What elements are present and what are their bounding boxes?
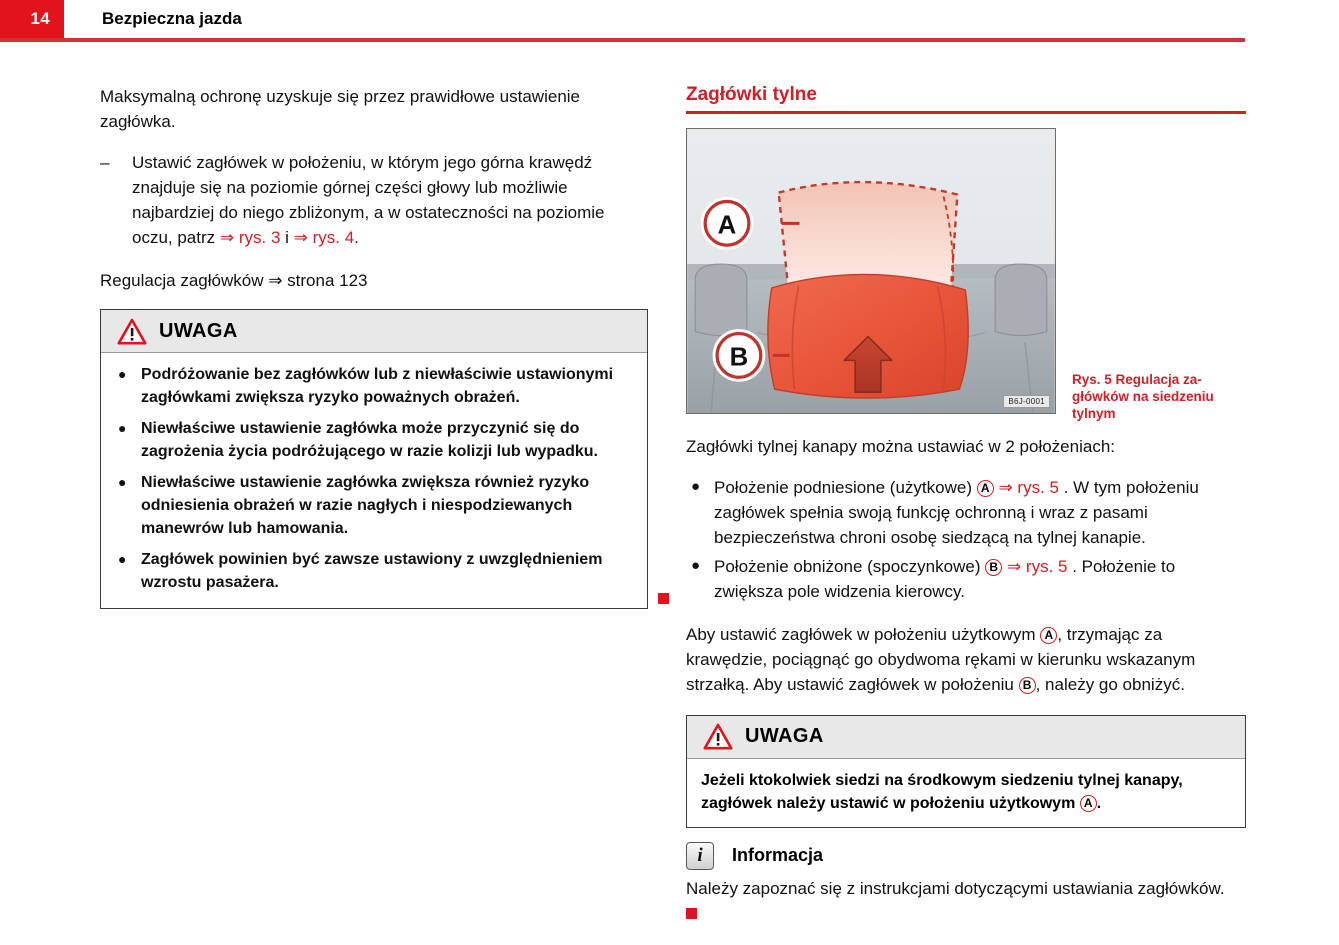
bullet-text-before: Położenie obniżone (spoczynkowe) (714, 557, 985, 576)
figure-caption: Rys. 5 Regulacja za- główków na siedzeni… (1072, 371, 1246, 422)
warning-text-before: Jeżeli ktokolwiek siedzi na środkowym si… (701, 772, 1183, 812)
warning-box-body: ● Podróżowanie bez zagłówków lub z niewł… (101, 353, 647, 608)
warning-bullet-text: Niewłaściwe ustawienie zagłówka może prz… (141, 420, 598, 460)
bullet-glyph: ● (691, 553, 700, 578)
warning-triangle-icon (703, 723, 733, 750)
marker-b: B (1019, 677, 1036, 694)
page-header: 14 Bezpieczna jazda (0, 0, 1339, 40)
position-bullet-b: ●Położenie obniżone (spoczynkowe) B ⇒ ry… (686, 554, 1246, 604)
bullet-glyph: ● (118, 417, 126, 440)
marker-a: A (1080, 795, 1097, 812)
instruction-text-after: . (354, 228, 359, 247)
warning-bullet: ● Niewłaściwe ustawienie zagłówka może p… (115, 417, 633, 463)
position-bullet-a: ●Położenie podniesione (użytkowe) A ⇒ ry… (686, 475, 1246, 550)
dash-glyph: – (100, 150, 109, 175)
warning-box-body: Jeżeli ktokolwiek siedzi na środkowym si… (687, 759, 1245, 827)
warning-title: UWAGA (745, 725, 824, 748)
warning-text-after: . (1097, 795, 1101, 812)
chapter-title: Bezpieczna jazda (102, 0, 242, 38)
warning-triangle-icon (117, 318, 147, 345)
headrest-illustration: A B B6J-0001 (686, 128, 1056, 414)
warning-bullet: ● Zagłówek powinien być zawsze ustawiony… (115, 548, 633, 594)
warning-bullet-text: Zagłówek powinien być zawsze ustawiony z… (141, 551, 602, 591)
figure-code: B6J-0001 (1003, 395, 1050, 408)
adjustment-paragraph: Aby ustawić zagłówek w położeniu użytkow… (686, 622, 1246, 697)
info-block-header: i Informacja (686, 842, 1246, 870)
cross-reference[interactable]: Regulacja zagłówków ⇒ strona 123 (100, 268, 648, 293)
warning-bullet-text: Podróżowanie bez zagłówków lub z niewłaś… (141, 366, 613, 406)
bullet-glyph: ● (118, 548, 126, 571)
marker-b: B (985, 559, 1002, 576)
marker-a: A (977, 480, 994, 497)
figure-caption-line-1: Rys. 5 Regulacja za- (1072, 371, 1246, 388)
bullet-glyph: ● (691, 474, 700, 499)
headrest-diagram: A B (687, 129, 1055, 413)
warning-bullet-text: Niewłaściwe ustawienie zagłówka zwiększa… (141, 474, 589, 537)
figure-caption-line-3: tylnym (1072, 405, 1246, 422)
figure-reference-3[interactable]: ⇒ rys. 3 (220, 228, 281, 247)
figure-reference-5[interactable]: ⇒ rys. 5 (1007, 557, 1068, 576)
figure-reference-4[interactable]: ⇒ rys. 4 (294, 228, 355, 247)
info-title: Informacja (732, 845, 823, 866)
figure-label-b: B (730, 343, 749, 371)
bullet-glyph: ● (118, 471, 126, 494)
info-i-icon: i (686, 842, 714, 870)
bullet-glyph: ● (118, 363, 126, 386)
lead-paragraph: Zagłówki tylnej kanapy można ustawiać w … (686, 434, 1246, 459)
figure-caption-line-2: główków na siedzeniu (1072, 388, 1246, 405)
figure-label-a: A (718, 211, 737, 239)
intro-paragraph: Maksymalną ochronę uzyskuje się przez pr… (100, 84, 648, 134)
figure-block: A B B6J-0001 Rys. 5 Regulacja za- główkó… (686, 128, 1246, 428)
page-number: 14 (0, 0, 50, 38)
instruction-text-before: Ustawić zagłówek w położeniu, w którym j… (132, 153, 604, 247)
warning-bullet: ● Podróżowanie bez zagłówków lub z niewł… (115, 363, 633, 409)
header-rule (0, 38, 1245, 42)
adjustment-text-3: , należy go obniżyć. (1036, 675, 1185, 694)
section-heading: Zagłówki tylne (686, 84, 1246, 111)
warning-bullet: ● Niewłaściwe ustawienie zagłówka zwięks… (115, 471, 633, 540)
figure-reference-5[interactable]: ⇒ rys. 5 (998, 478, 1059, 497)
marker-a: A (1040, 627, 1057, 644)
section-end-marker (686, 908, 697, 919)
info-paragraph: Należy zapoznać się z instrukcjami dotyc… (686, 876, 1246, 926)
bullet-text-before: Położenie podniesione (użytkowe) (714, 478, 977, 497)
instruction-conjunction: i (280, 228, 293, 247)
warning-box-header: UWAGA (687, 716, 1245, 759)
adjustment-text-1: Aby ustawić zagłówek w położeniu użytkow… (686, 625, 1040, 644)
section-end-marker (658, 593, 669, 604)
left-column: Maksymalną ochronę uzyskuje się przez pr… (100, 84, 648, 609)
warning-box-header: UWAGA (101, 310, 647, 353)
warning-title: UWAGA (159, 320, 238, 343)
page-number-block: 14 (0, 0, 64, 38)
info-text: Należy zapoznać się z instrukcjami dotyc… (686, 879, 1225, 898)
section-heading-rule (686, 111, 1246, 114)
instruction-dash-item: –Ustawić zagłówek w położeniu, w którym … (100, 150, 648, 250)
warning-box-right: UWAGA Jeżeli ktokolwiek siedzi na środko… (686, 715, 1246, 828)
right-column: Zagłówki tylne (686, 84, 1246, 926)
warning-box-left: UWAGA ● Podróżowanie bez zagłówków lub z… (100, 309, 648, 609)
